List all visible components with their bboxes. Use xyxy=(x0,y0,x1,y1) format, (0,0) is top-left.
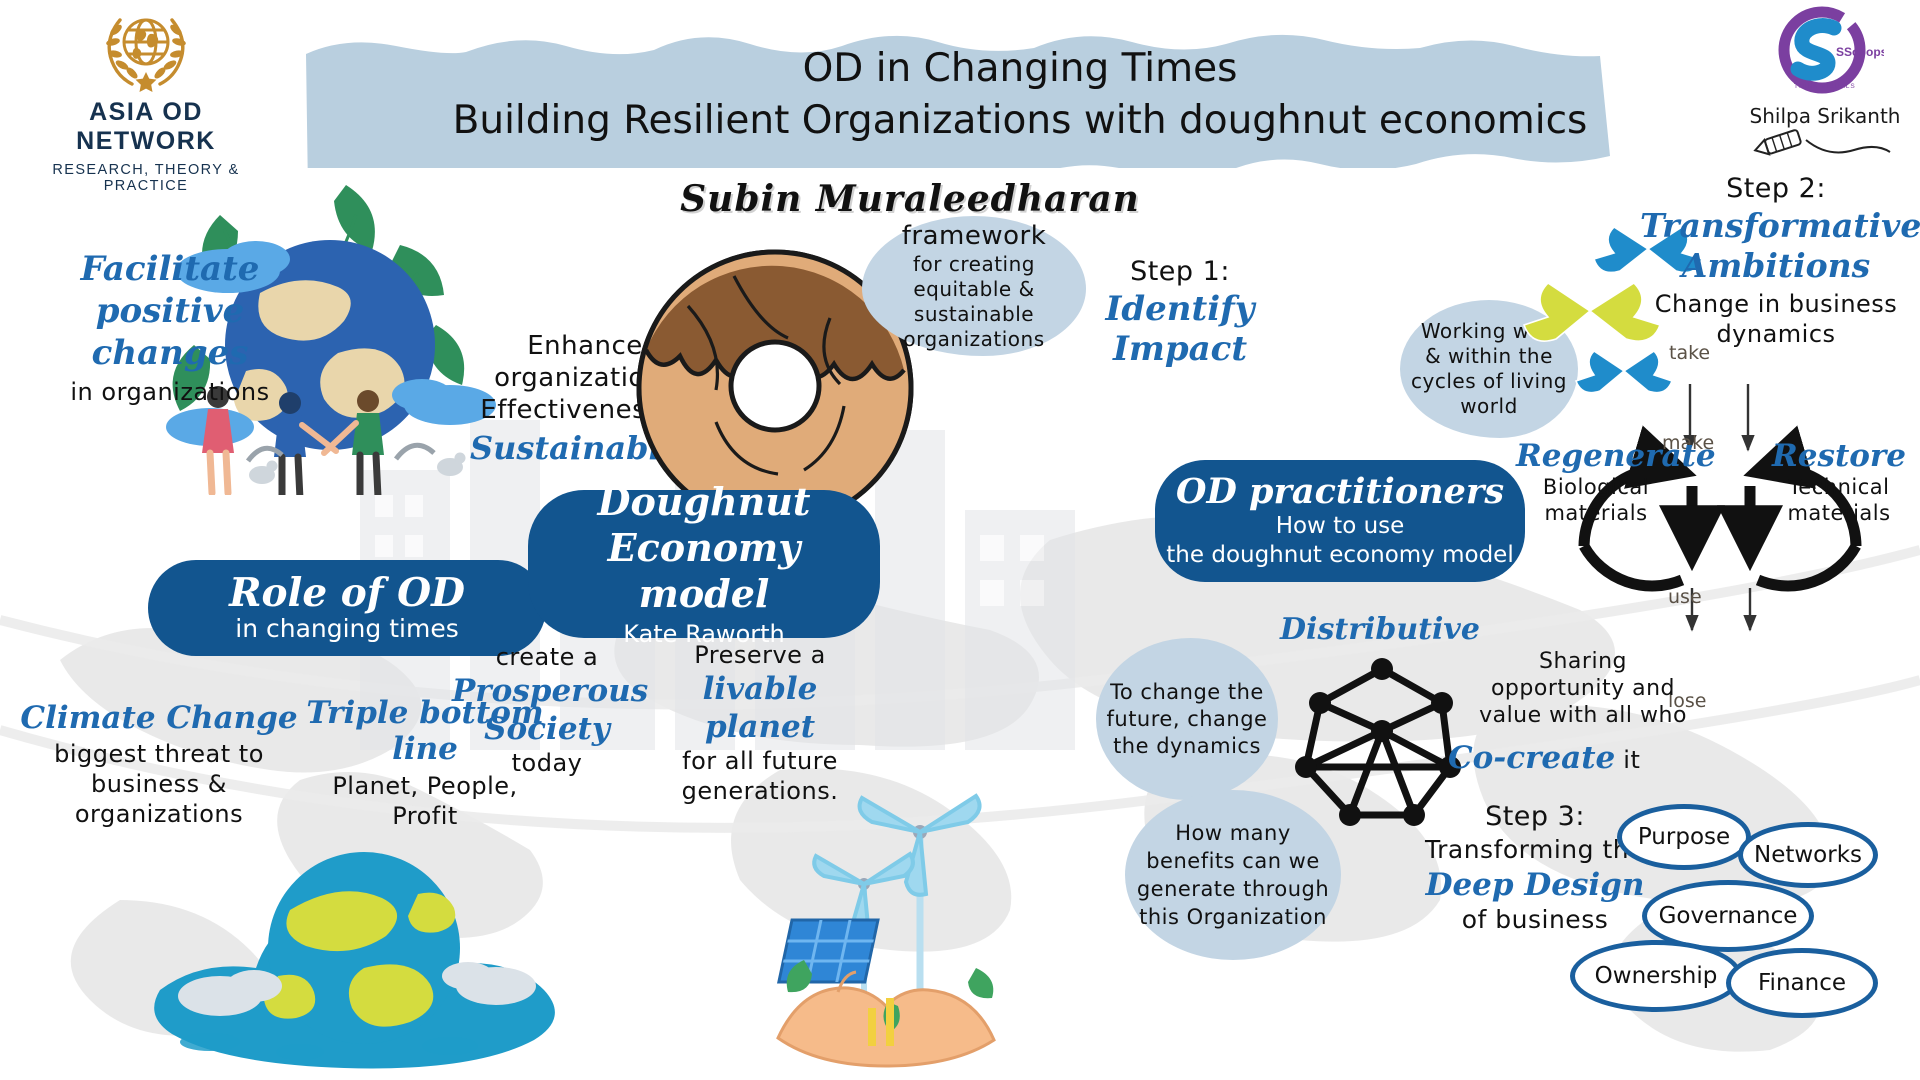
asia-od-network-logo: ASIA OD NETWORK RESEARCH, THEORY & PRACT… xyxy=(16,8,276,158)
livable-script: livable planet xyxy=(645,670,875,746)
prosperous-post: today xyxy=(452,748,642,778)
step-1-label: Step 1: xyxy=(1090,255,1270,289)
change-dynamics-bubble: To change the future, change the dynamic… xyxy=(1096,638,1278,800)
restore-sub: Technical materials xyxy=(1764,474,1914,526)
od-practitioners-banner[interactable]: OD practitioners How to use the doughnut… xyxy=(1155,460,1525,582)
step-3-block: Step 3: Transforming the Deep Design of … xyxy=(1410,800,1660,935)
distributive-script: Distributive xyxy=(1270,612,1490,647)
distributive-label: Distributive xyxy=(1270,612,1490,647)
facilitate-block: Facilitate positive changes in organizat… xyxy=(20,248,320,406)
sscoops-tagline: THINK VISUALS xyxy=(1794,83,1856,90)
step-1-script: Identify Impact xyxy=(1090,289,1270,369)
role-of-od-title: Role of OD xyxy=(229,572,465,614)
sscoops-logo: SScoops THINK VISUALS Shilpa Srikanth xyxy=(1735,4,1915,154)
melting-globe-illustration xyxy=(150,790,580,1070)
step-3-script: Deep Design xyxy=(1410,866,1660,904)
chip-networks-label: Networks xyxy=(1754,842,1862,868)
chip-ownership-label: Ownership xyxy=(1595,963,1718,989)
chip-governance-label: Governance xyxy=(1659,903,1798,929)
sscoops-circle-logo: SScoops THINK VISUALS xyxy=(1766,4,1884,104)
step-2-script: Transformative Ambitions xyxy=(1640,206,1912,286)
svg-text:SScoops: SScoops xyxy=(1836,45,1884,59)
sharing-block: Sharing opportunity and value with all w… xyxy=(1470,648,1696,729)
artist-signature: Shilpa Srikanth xyxy=(1735,104,1915,128)
title-line-1: OD in Changing Times xyxy=(300,44,1740,94)
chip-purpose[interactable]: Purpose xyxy=(1617,804,1751,870)
regenerate-script: Regenerate xyxy=(1516,438,1676,474)
framework-bubble: framework for creating equitable & susta… xyxy=(862,216,1086,356)
od-practitioners-line-1: How to use xyxy=(1276,512,1405,541)
renewable-energy-in-hands-illustration xyxy=(760,770,1060,1070)
page-title: OD in Changing Times Building Resilient … xyxy=(300,44,1740,148)
change-dynamics-text: To change the future, change the dynamic… xyxy=(1096,679,1278,760)
restore-script: Restore xyxy=(1764,438,1914,474)
prosperous-society-block: create a Prosperous Society today xyxy=(452,642,642,778)
chip-ownership[interactable]: Ownership xyxy=(1570,940,1742,1012)
title-line-2: Building Resilient Organizations with do… xyxy=(300,94,1740,148)
cocreate-post: it xyxy=(1623,746,1640,774)
cocreate-block: Co-create it xyxy=(1448,740,1708,776)
facilitate-script: Facilitate positive changes xyxy=(20,248,320,374)
chip-purpose-label: Purpose xyxy=(1638,824,1730,850)
step-2-block: Step 2: Transformative Ambitions Change … xyxy=(1640,172,1912,349)
logo-name: ASIA OD NETWORK xyxy=(16,98,276,156)
regenerate-sub: Biological materials xyxy=(1516,474,1676,526)
framework-body: for creating equitable & sustainable org… xyxy=(862,252,1086,352)
sharing-text: Sharing opportunity and value with all w… xyxy=(1470,648,1696,729)
facilitate-sub: in organizations xyxy=(20,378,320,406)
od-practitioners-line-2: the doughnut economy model xyxy=(1166,541,1513,570)
prosperous-script: Prosperous Society xyxy=(452,672,642,748)
cocreate-script: Co-create xyxy=(1448,740,1615,776)
chip-networks[interactable]: Networks xyxy=(1738,822,1878,888)
sketchnote-canvas: ASIA OD NETWORK RESEARCH, THEORY & PRACT… xyxy=(0,0,1920,1080)
step-2-label: Step 2: xyxy=(1640,172,1912,206)
prosperous-pre: create a xyxy=(452,642,642,672)
chip-finance-label: Finance xyxy=(1758,970,1846,996)
speaker-name: Subin Muraleedharan xyxy=(660,178,1160,220)
benefits-text: How many benefits can we generate throug… xyxy=(1125,819,1341,931)
regenerate-block: Regenerate Biological materials xyxy=(1516,438,1676,526)
pen-doodle-icon xyxy=(1750,126,1900,160)
role-of-od-sub: in changing times xyxy=(235,614,458,644)
chip-finance[interactable]: Finance xyxy=(1726,948,1878,1018)
cycle-label-take: take xyxy=(1669,342,1710,364)
globe-laurel-wreath-icon xyxy=(86,8,206,92)
step-1-block: Step 1: Identify Impact xyxy=(1090,255,1270,369)
livable-pre: Preserve a xyxy=(645,640,875,670)
step-3-post: of business xyxy=(1410,904,1660,935)
doughnut-banner-title: Doughnut Economy model xyxy=(528,479,880,617)
restore-block: Restore Technical materials xyxy=(1764,438,1914,526)
od-practitioners-title: OD practitioners xyxy=(1176,472,1504,512)
doughnut-economy-model-banner[interactable]: Doughnut Economy model Kate Raworth xyxy=(528,490,880,638)
framework-title: framework xyxy=(902,220,1047,252)
climate-change-script: Climate Change xyxy=(14,700,304,736)
cycle-label-use: use xyxy=(1668,586,1702,608)
